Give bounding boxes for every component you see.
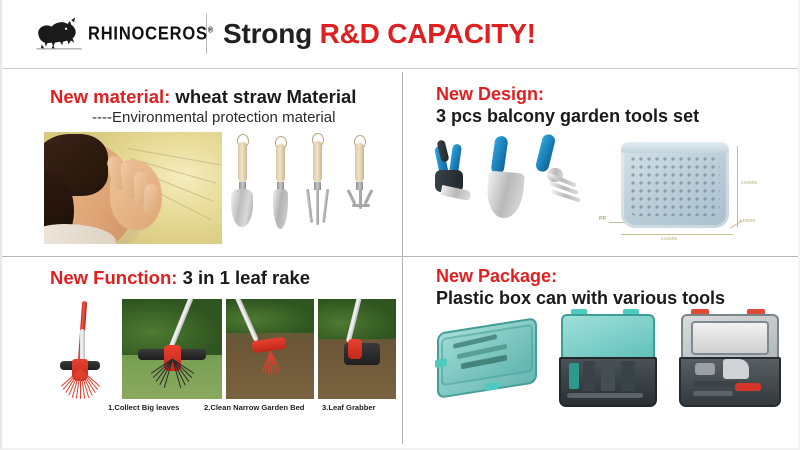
panel-new-material: New material: wheat straw Material ----E…: [2, 70, 402, 256]
open-grey-toolbox-photo: [677, 309, 781, 409]
new-function-heading: New Function: 3 in 1 leaf rake: [50, 268, 310, 289]
new-material-heading: New material: wheat straw Material: [50, 87, 356, 108]
balcony-garden-tools-set-photo: 240MM 240MM 140MM PP: [421, 128, 800, 252]
page-title-red: R&D CAPACITY!: [320, 18, 536, 49]
closed-teal-toolbox-photo: [431, 309, 541, 405]
leaf-rake-image-strip: 1.Collect Big leaves 2.Clean Narrow Gard…: [36, 299, 396, 415]
leaf-rake-caption-1: 1.Collect Big leaves: [108, 403, 179, 412]
toolbox-image-strip: [421, 309, 796, 419]
new-function-heading-black: 3 in 1 leaf rake: [177, 267, 310, 288]
page-title: Strong R&D CAPACITY!: [223, 18, 536, 50]
slide-header: RHINOCEROS® Strong R&D CAPACITY!: [2, 0, 798, 68]
leaf-rake-caption-3: 3.Leaf Grabber: [322, 403, 376, 412]
new-package-heading-red: New Package:: [436, 266, 557, 286]
brand-logo: RHINOCEROS®: [2, 0, 202, 68]
woman-smelling-wheat-photo: [44, 132, 222, 244]
leaf-rake-collect-photo: [122, 299, 222, 399]
new-function-heading-red: New Function:: [50, 267, 177, 288]
leaf-rake-grabber-photo: [318, 299, 396, 399]
panel-new-function: New Function: 3 in 1 leaf rake: [2, 257, 402, 444]
panel-new-design: New Design: 3 pcs balcony garden tools s…: [403, 70, 798, 256]
new-package-heading-black: Plastic box can with various tools: [436, 288, 725, 308]
page-title-black: Strong: [223, 18, 320, 49]
slide-page: RHINOCEROS® Strong R&D CAPACITY! New mat…: [0, 0, 800, 450]
dimension-line-height: [737, 146, 738, 228]
new-material-subtitle: ----Environmental protection material: [92, 109, 335, 126]
new-design-heading-black: 3 pcs balcony garden tools set: [436, 106, 699, 126]
header-rule: [2, 68, 798, 69]
dimension-width-label: 240MM: [661, 236, 677, 241]
new-design-heading-red: New Design:: [436, 84, 544, 104]
wheat-straw-handle-tools-photo: [224, 130, 400, 246]
leaf-rake-product-photo: [36, 299, 118, 399]
dimension-line-width: [621, 234, 733, 235]
brand-wordmark: RHINOCEROS®: [88, 23, 214, 44]
new-material-heading-black: wheat straw Material: [170, 86, 356, 107]
open-teal-toolbox-photo: [557, 309, 657, 409]
leaf-rake-narrow-bed-photo: [226, 299, 314, 399]
new-material-heading-red: New material:: [50, 86, 170, 107]
material-tag-pp: PP: [599, 216, 606, 222]
registered-mark: ®: [208, 26, 214, 34]
panel-new-package: New Package: Plastic box can with variou…: [403, 257, 798, 444]
rhino-icon: [34, 17, 86, 51]
leaf-rake-caption-2: 2.Clean Narrow Garden Bed: [204, 403, 304, 412]
dimension-depth-label: 140MM: [739, 218, 755, 223]
dimension-height-label: 240MM: [741, 180, 757, 185]
